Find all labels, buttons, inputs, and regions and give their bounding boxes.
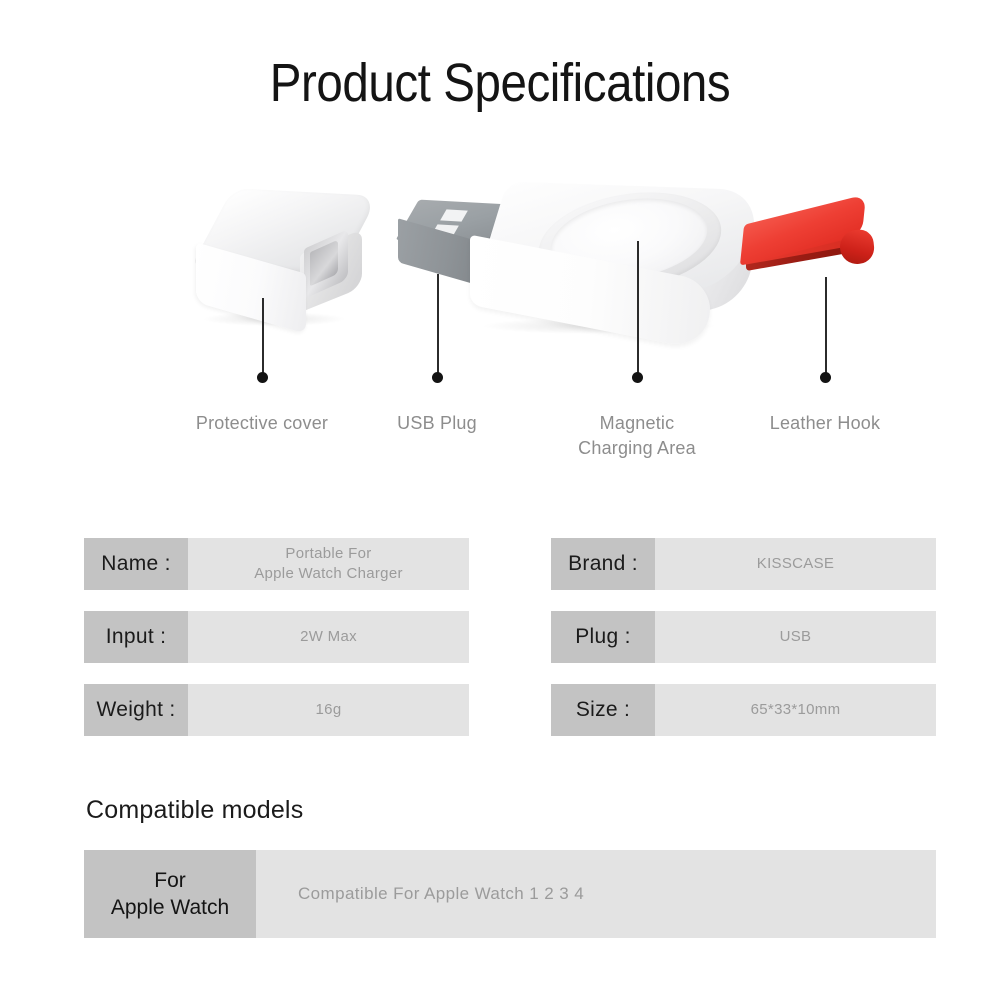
spec-item-size: Size : 65*33*10mm bbox=[551, 684, 936, 736]
callout-dot bbox=[432, 372, 443, 383]
spec-row: Input : 2W Max Plug : USB bbox=[84, 611, 936, 663]
spec-value-weight: 16g bbox=[188, 684, 469, 736]
callout-line bbox=[262, 298, 264, 376]
spec-value-size: 65*33*10mm bbox=[655, 684, 936, 736]
callout-label-magnetic-charging-area: Magnetic Charging Area bbox=[547, 411, 727, 461]
callout-dot bbox=[820, 372, 831, 383]
charger-body-part bbox=[470, 186, 770, 346]
compatible-models-table: For Apple Watch Compatible For Apple Wat… bbox=[84, 850, 936, 938]
spec-row: Name : Portable For Apple Watch Charger … bbox=[84, 538, 936, 590]
compatible-models-value: Compatible For Apple Watch 1 2 3 4 bbox=[256, 850, 936, 938]
compatible-models-heading: Compatible models bbox=[86, 796, 303, 825]
spec-key-name: Name : bbox=[84, 538, 188, 590]
spec-item-plug: Plug : USB bbox=[551, 611, 936, 663]
callout-label-usb-plug: USB Plug bbox=[371, 411, 503, 436]
callout-dot bbox=[257, 372, 268, 383]
callout-dot bbox=[632, 372, 643, 383]
spec-item-brand: Brand : KISSCASE bbox=[551, 538, 936, 590]
spec-value-brand: KISSCASE bbox=[655, 538, 936, 590]
spec-item-input: Input : 2W Max bbox=[84, 611, 469, 663]
protective-cover-part bbox=[196, 192, 368, 322]
spec-item-weight: Weight : 16g bbox=[84, 684, 469, 736]
callout-line bbox=[825, 277, 827, 376]
spec-value-plug: USB bbox=[655, 611, 936, 663]
callout-line bbox=[437, 274, 439, 376]
spec-value-name: Portable For Apple Watch Charger bbox=[188, 538, 469, 590]
spec-row: Weight : 16g Size : 65*33*10mm bbox=[84, 684, 936, 736]
spec-key-plug: Plug : bbox=[551, 611, 655, 663]
spec-value-input: 2W Max bbox=[188, 611, 469, 663]
specification-table: Name : Portable For Apple Watch Charger … bbox=[84, 538, 936, 757]
spec-key-brand: Brand : bbox=[551, 538, 655, 590]
spec-key-input: Input : bbox=[84, 611, 188, 663]
compatible-models-key: For Apple Watch bbox=[84, 850, 256, 938]
leather-hook-part bbox=[742, 210, 882, 295]
spec-item-name: Name : Portable For Apple Watch Charger bbox=[84, 538, 469, 590]
callout-label-leather-hook: Leather Hook bbox=[749, 411, 901, 436]
callout-line bbox=[637, 241, 639, 376]
callout-label-protective-cover: Protective cover bbox=[176, 411, 348, 436]
spec-key-weight: Weight : bbox=[84, 684, 188, 736]
spec-key-size: Size : bbox=[551, 684, 655, 736]
page-title: Product Specifications bbox=[60, 52, 940, 114]
